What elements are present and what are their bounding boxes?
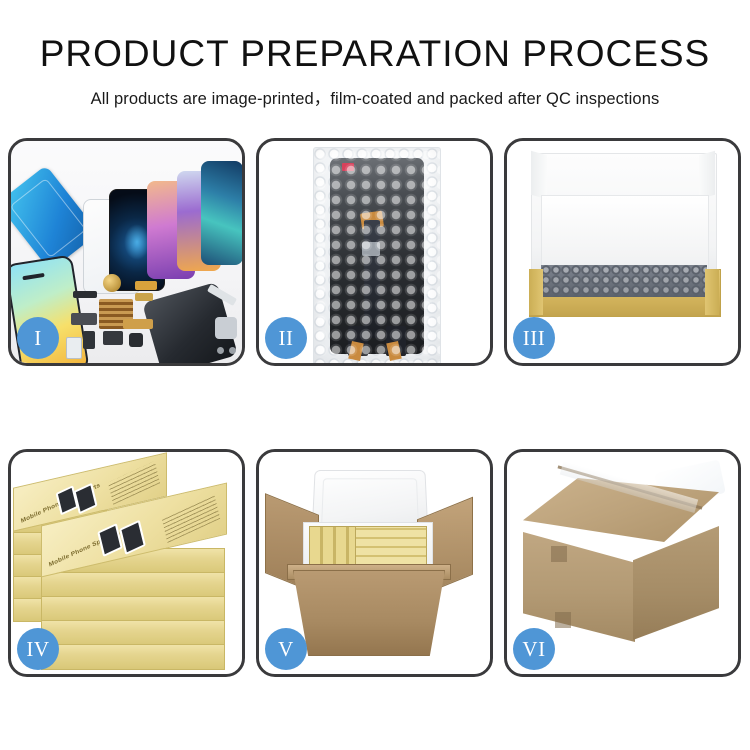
- component-icon: [83, 331, 95, 349]
- step-badge-1: I: [17, 317, 59, 359]
- step-panel-6: VI: [504, 449, 741, 677]
- teal-phone-icon: [201, 161, 242, 265]
- red-label-icon: [342, 163, 354, 171]
- foam-sheet-icon: [541, 195, 709, 271]
- tool-icon: [215, 317, 237, 339]
- steps-grid: I II: [8, 138, 742, 677]
- carton-mark-icon: [551, 546, 567, 562]
- screw-icon: [229, 347, 236, 354]
- product-preparation-infographic: PRODUCT PREPARATION PROCESS All products…: [0, 0, 750, 750]
- component-icon: [71, 313, 97, 325]
- bubble-wrap-bag-icon: [313, 147, 441, 363]
- component-icon: [129, 333, 143, 347]
- gold-box-icon: [41, 596, 225, 622]
- flex-cable-icon: [135, 293, 153, 301]
- tray-side-left-icon: [529, 269, 543, 315]
- tray-side-right-icon: [705, 269, 719, 315]
- flex-cable-icon: [135, 281, 157, 290]
- lid-flap-left-icon: [531, 151, 547, 200]
- carton-side-face-icon: [633, 526, 719, 640]
- page-title: PRODUCT PREPARATION PROCESS: [0, 32, 750, 76]
- spec-lines-icon: [162, 495, 220, 543]
- printed-screen-icon: [119, 520, 146, 555]
- flex-ribbon-icon: [364, 220, 380, 338]
- step-panel-3: III: [504, 138, 741, 366]
- screw-icon: [217, 347, 224, 354]
- step-badge-5: V: [265, 628, 307, 670]
- gold-box-icon: [41, 572, 225, 598]
- step-panel-5: V: [256, 449, 493, 677]
- spec-lines-icon: [108, 461, 160, 505]
- step-panel-2: II: [256, 138, 493, 366]
- step-badge-2: II: [265, 317, 307, 359]
- step-badge-6: VI: [513, 628, 555, 670]
- battery-icon: [66, 337, 82, 359]
- gold-contact-icon: [348, 341, 363, 361]
- lcd-screen-icon: [330, 158, 424, 354]
- header: PRODUCT PREPARATION PROCESS All products…: [0, 0, 750, 109]
- driver-ic-icon: [362, 242, 380, 256]
- gold-box-icon: [41, 644, 225, 670]
- gold-box-icon: [41, 620, 225, 646]
- lid-flap-right-icon: [699, 151, 715, 200]
- step-badge-3: III: [513, 317, 555, 359]
- cardboard-carton-icon: [293, 570, 445, 656]
- component-icon: [103, 331, 123, 345]
- step-panel-4: Mobile Phone Spare Parts Mobile Phone Sp…: [8, 449, 245, 677]
- step-badge-4: IV: [17, 628, 59, 670]
- flex-cable-icon: [123, 319, 153, 329]
- component-icon: [73, 291, 97, 298]
- page-subtitle: All products are image-printed，film-coat…: [0, 85, 750, 109]
- step-panel-1: I: [8, 138, 245, 366]
- carton-mark-icon: [555, 612, 571, 628]
- speaker-coil-icon: [103, 274, 121, 292]
- carton-front-face-icon: [523, 532, 635, 642]
- bubble-wrapped-contents-icon: [541, 265, 707, 297]
